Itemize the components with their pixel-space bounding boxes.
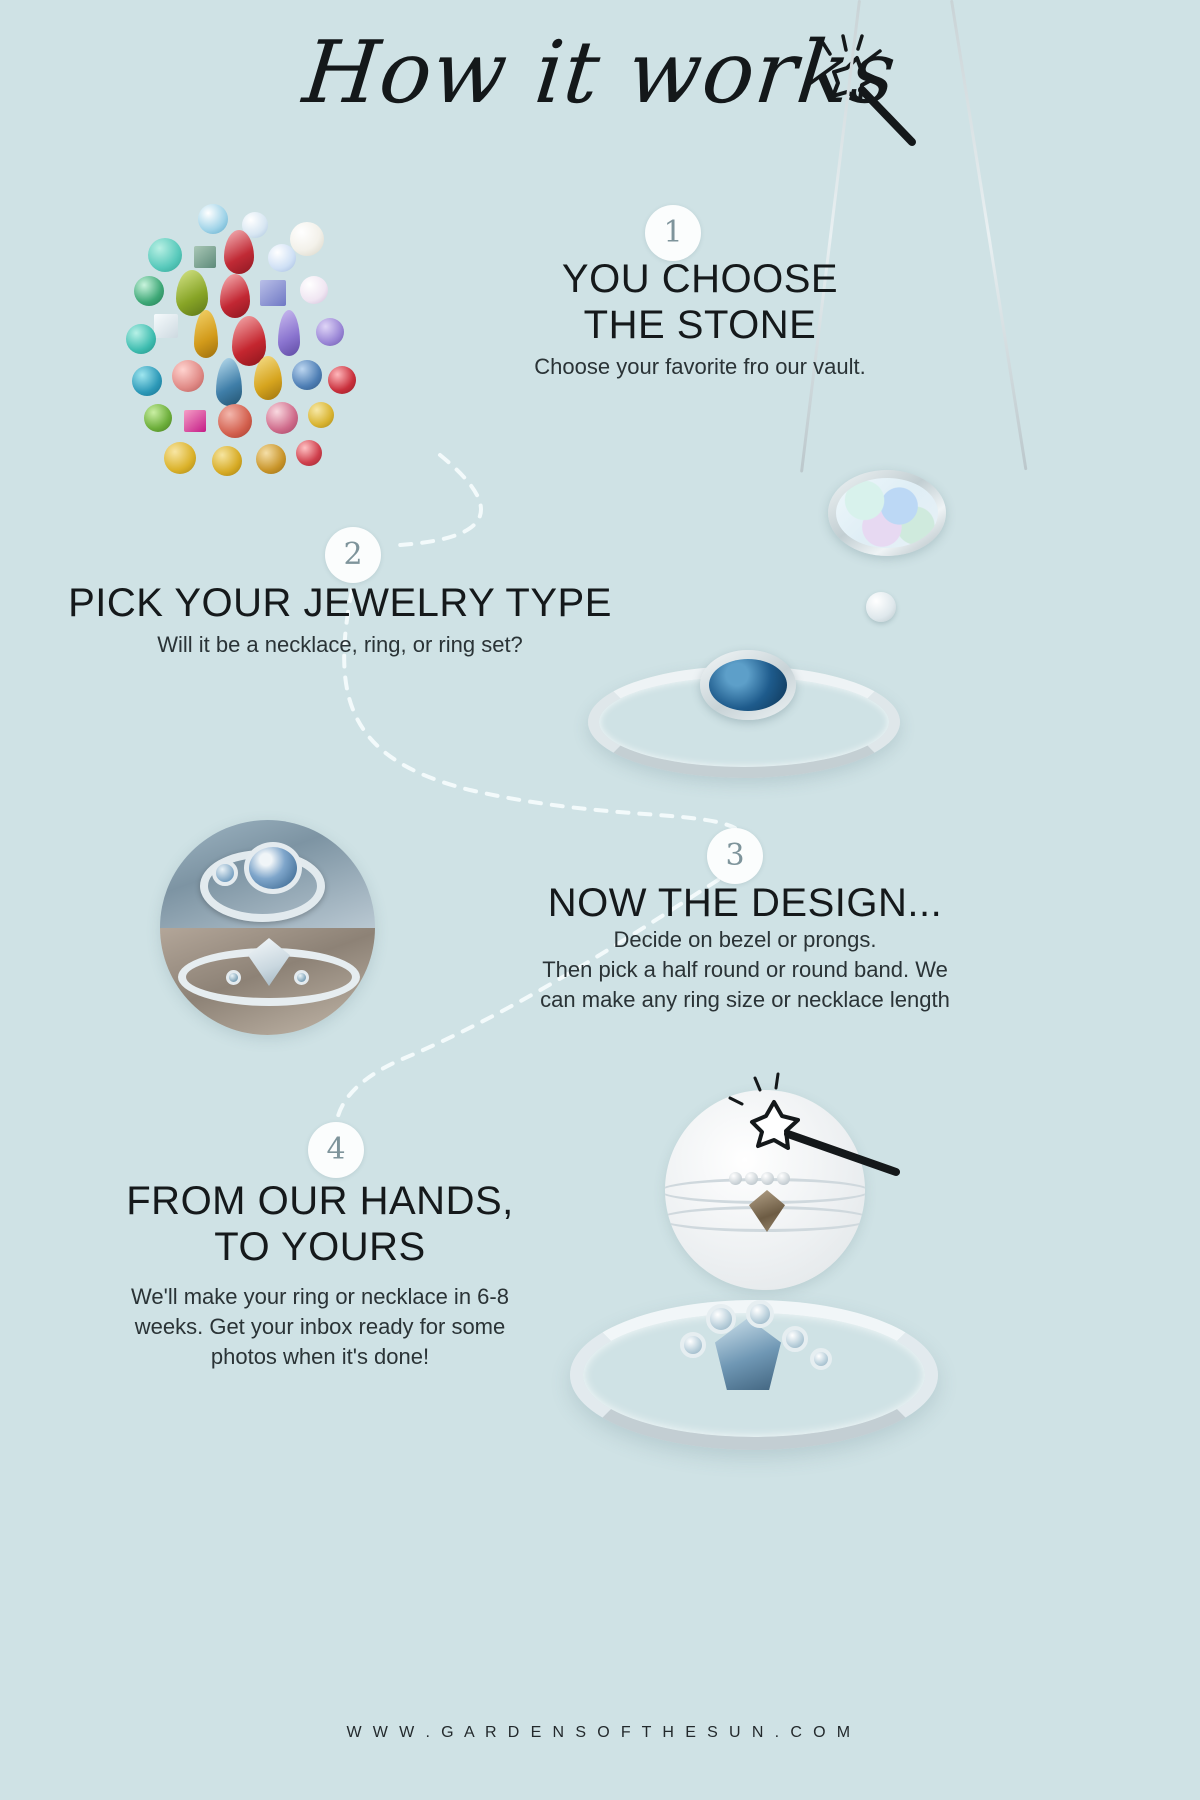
side-accent-left [226,970,241,985]
chain-right [950,0,1027,470]
gem [308,402,334,428]
gem [266,402,298,434]
accent-stone [212,860,238,886]
gem [194,310,218,358]
opal-pendant-bezel [828,470,946,556]
moonstone-cabochon [244,842,302,894]
gem [154,314,178,338]
gem [126,324,156,354]
accent-stone-3 [746,1300,774,1328]
step-1-body: Choose your favorite fro our vault. [470,352,930,382]
gem [218,404,252,438]
topaz-stone [709,659,787,711]
gem [212,446,242,476]
gem [300,276,328,304]
topaz-ring-photo [580,638,910,798]
gem [198,204,228,234]
ring-duo-circle-photo [160,820,375,1035]
gem [296,440,322,466]
accent-stone-4 [782,1326,808,1352]
step-3-body: Decide on bezel or prongs. Then pick a h… [490,925,1000,1015]
accent-stone-1 [680,1332,706,1358]
gem [254,356,282,400]
gem [316,318,344,346]
step-badge-2: 2 [325,527,381,583]
connector-1-to-2 [400,455,481,545]
accent-stone-2 [706,1304,736,1334]
gem [292,360,322,390]
gem [278,310,300,356]
gem [194,246,216,268]
chain-left [800,0,861,473]
gem [260,280,286,306]
pearl-drop [866,592,896,622]
gem [290,222,324,256]
infographic-page: How it works [0,0,1200,1800]
gem [184,410,206,432]
gemstone-cluster-photo [120,198,410,488]
gem [176,270,208,316]
step-2-headline: PICK YOUR JEWELRY TYPE [60,580,620,626]
opal-stone [836,478,938,548]
gem [144,404,172,432]
finished-rings-photo [560,1270,950,1470]
gem [172,360,204,392]
gem [220,274,250,318]
gem [268,244,296,272]
step-3-headline: NOW THE DESIGN... [520,880,970,926]
gem [216,358,242,406]
accent-stone-5 [810,1348,832,1370]
gem [256,444,286,474]
side-accent-right [294,970,309,985]
step-2-body: Will it be a necklace, ring, or ring set… [60,630,620,660]
step-badge-3: 3 [707,828,763,884]
step-badge-1: 1 [645,205,701,261]
gem [132,366,162,396]
gem [164,442,196,474]
gem [148,238,182,272]
gem [134,276,164,306]
step-1-headline: YOU CHOOSE THE STONE [490,256,910,349]
ring-bezel [700,650,796,720]
footer-url[interactable]: W W W . G A R D E N S O F T H E S U N . … [0,1724,1200,1742]
gem [328,366,356,394]
step-4-headline: FROM OUR HANDS, TO YOURS [80,1178,560,1271]
step-badge-4: 4 [308,1122,364,1178]
magic-wand-icon-secondary [718,1060,908,1200]
step-4-body: We'll make your ring or necklace in 6-8 … [90,1282,550,1372]
